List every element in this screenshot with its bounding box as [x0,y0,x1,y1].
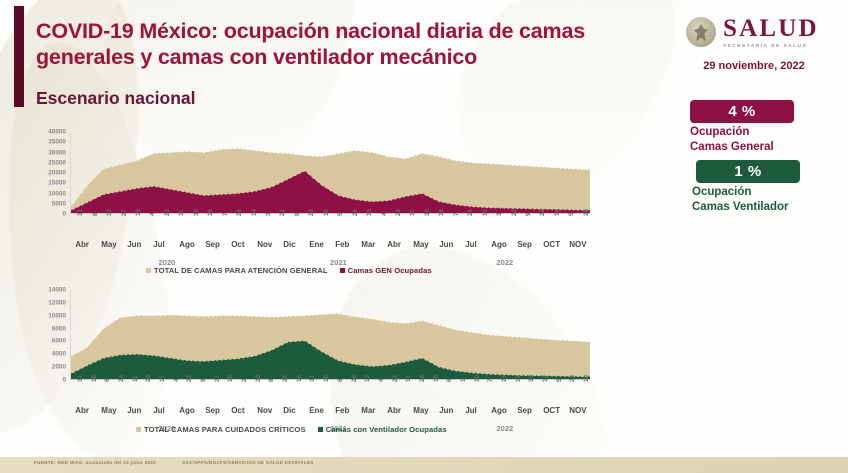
x-tick-label: 12 [515,375,522,382]
x-tick-label: 10 [583,375,590,382]
y-tick-label: 30000 [26,149,66,156]
x-tick-label: 15 [227,375,234,382]
x-axis-month-label: Ene [309,240,324,249]
legend-swatch-icon [136,427,141,432]
x-tick-label: 14 [251,209,258,216]
x-tick-label: 28 [539,209,546,216]
x-tick-label: 26 [236,209,243,216]
x-tick-label: 4 [381,213,388,216]
footer-bar: FUENTE: RED IRAG, acumulado del 24 junio… [0,457,848,473]
x-tick-label: 3 [265,213,272,216]
y-tick-label: 12000 [26,299,66,306]
x-tick-label: 9 [200,379,207,382]
legend-swatch-icon [340,268,345,273]
y-tick-label: 2000 [26,364,66,371]
x-tick-label: 20 [255,375,262,382]
y-tick-label: 25000 [26,159,66,166]
x-axis-month-label: Mar [361,406,375,415]
x-tick-label: 11 [132,375,139,382]
x-axis-month-label: Jul [465,406,477,415]
x-axis-month-label: Jun [439,240,453,249]
x-tick-label: 13 [106,209,113,216]
x-tick-label: 22 [186,375,193,382]
x-tick-label: 5 [337,213,344,216]
legend-label: TOTAL DE CAMAS PARA ATENCIÓN GENERAL [154,266,328,275]
x-axis-month-label: Abr [75,406,89,415]
x-tick-label: 18 [438,209,445,216]
x-axis-month-label: Ago [491,406,507,415]
x-axis-month-label: Nov [257,240,272,249]
x-tick-label: 27 [214,375,221,382]
x-tick-label: 3 [496,213,503,216]
y-tick-label: 0 [26,377,66,384]
x-axis-month-label: Nov [257,406,272,415]
x-tick-label: 11 [178,209,185,216]
x-tick-label: 10 [135,209,142,216]
kpi-caption-ventilador-line2: Camas Ventilador [692,200,842,215]
x-tick-label: 28 [308,209,315,216]
plot-area-camas-generales [70,132,590,214]
x-axis-month-label: NOV [569,406,586,415]
y-tick-label: 5000 [26,200,66,207]
legend-camas-generales: TOTAL DE CAMAS PARA ATENCIÓN GENERALCama… [146,266,440,275]
y-tick-label: 40000 [26,129,66,136]
x-tick-label: 13 [364,375,371,382]
x-axis-month-label: Dic [283,240,295,249]
x-tick-label: 29 [145,375,152,382]
chart-camas-ventilador: 02000400060008000100001200014000 3118624… [26,290,596,445]
x-tick-label: 5 [568,213,575,216]
x-tick-label: 22 [511,209,518,216]
y-tick-label: 14000 [26,287,66,294]
y-tick-label: 20000 [26,170,66,177]
x-axis-month-label: Sep [205,240,220,249]
x-tick-label: 31 [77,375,84,382]
x-tick-label: 6 [337,379,344,382]
x-tick-label: 29 [419,375,426,382]
x-axis-month-label: Ago [179,406,195,415]
x-axis-month-label: May [101,240,117,249]
x-tick-label: 26 [467,209,474,216]
footer-source: FUENTE: RED IRAG, acumulado del 24 junio… [34,460,156,465]
accent-bar [14,6,24,107]
y-tick-label: 8000 [26,325,66,332]
x-tick-label: 4 [378,379,385,382]
x-axis-month-label: Abr [387,406,401,415]
right-panel: SALUD SECRETARÍA DE SALUD 29 noviembre, … [660,0,848,473]
x-tick-label: 30 [193,209,200,216]
x-tick-label: 22 [392,375,399,382]
x-axis-month-label: Dic [283,406,295,415]
x-axis-month-label: Ago [179,240,195,249]
footer-source-secondary: SSA/SPPS/DGCFS/SERVICIOS DE SALUD ESTATA… [182,460,314,465]
x-axis-month-label: Jul [465,240,477,249]
x-tick-label: 7 [453,213,460,216]
brand-lockup: SALUD SECRETARÍA DE SALUD [686,16,819,49]
x-axis-month-label: Feb [335,240,349,249]
x-tick-label: 23 [569,375,576,382]
slide-stage: COVID-19 México: ocupación nacional diar… [0,0,848,473]
legend-label: Camas con Ventilador Ocupadas [326,425,447,434]
kpi-caption-general-line2: Camas General [690,140,830,155]
x-tick-label: 7 [487,379,494,382]
y-tick-label: 10000 [26,312,66,319]
x-tick-label: 25 [501,375,508,382]
x-tick-label: 7 [222,213,229,216]
legend-label: Camas GEN Ocupadas [348,266,432,275]
mexico-eagle-seal-icon [686,17,716,47]
x-tick-label: 16 [554,209,561,216]
x-axis-month-label: OCT [543,406,560,415]
x-tick-label: 18 [207,209,214,216]
x-axis-month-label: Ene [309,406,324,415]
chart-camas-generales: 0500010000150002000025000300003500040000… [26,132,596,282]
kpi-caption-ventilador-line1: Ocupación [692,185,842,200]
kpi-caption-ventilador: Ocupación Camas Ventilador [692,185,842,214]
x-tick-label: 9 [525,213,532,216]
area-chart-svg-camas-ventilador [70,290,590,380]
x-tick-label: 8 [268,379,275,382]
x-tick-label: 17 [542,375,549,382]
x-tick-label: 6 [104,379,111,382]
x-tick-label: 27 [121,209,128,216]
x-tick-label: 31 [77,209,84,216]
x-axis-month-label: Oct [231,240,244,249]
x-tick-label: 26 [351,375,358,382]
x-tick-label: 19 [474,375,481,382]
status-badge-ocupacion-general: 4 % [690,100,794,123]
x-tick-label: 5 [556,379,563,382]
y-tick-label: 10000 [26,190,66,197]
brand-wordmark: SALUD [723,16,819,41]
status-badge-ocupacion-ventilador: 1 % [696,160,800,183]
x-tick-label: 16 [323,209,330,216]
x-axis-month-label: Mar [361,240,375,249]
y-tick-label: 4000 [26,351,66,358]
y-tick-label: 15000 [26,180,66,187]
x-tick-label: 31 [309,375,316,382]
x-tick-label: 13 [366,209,373,216]
page-title: COVID-19 México: ocupación nacional diar… [36,18,656,70]
x-tick-label: 2 [241,379,248,382]
x-tick-label: 23 [395,209,402,216]
x-tick-label: 11 [405,375,412,382]
x-axis-year-label: 2022 [496,424,513,433]
slide-date: 29 noviembre, 2022 [660,60,848,72]
y-tick-label: 0 [26,211,66,218]
x-axis-month-label: May [101,406,117,415]
x-axis-month-label: Jun [439,406,453,415]
x-tick-label: 18 [91,375,98,382]
y-axis-line [70,290,71,380]
x-tick-label: 25 [583,209,590,216]
brand-tagline: SECRETARÍA DE SALUD [723,44,819,49]
x-axis-month-label: Jul [153,240,165,249]
legend-item: Camas GEN Ocupadas [340,266,432,275]
y-axis-line [70,132,71,214]
x-tick-label: 22 [279,209,286,216]
x-axis-month-label: May [413,406,429,415]
x-tick-label: 26 [282,375,289,382]
x-tick-label: 9 [294,213,301,216]
kpi-caption-general-line1: Ocupación [690,125,830,140]
x-axis-month-label: Jun [127,240,141,249]
x-tick-label: 16 [433,375,440,382]
legend-item: TOTAL CAMAS PARA CUIDADOS CRÍTICOS [136,425,306,434]
x-axis-month-label: May [413,240,429,249]
x-tick-label: 4 [173,379,180,382]
x-axis-month-label: Sep [517,240,532,249]
x-tick-label: 4 [149,213,156,216]
x-axis-month-label: OCT [543,240,560,249]
x-tick-label: 15 [482,209,489,216]
x-axis-month-label: Sep [517,406,532,415]
x-tick-label: 6 [446,379,453,382]
legend-swatch-icon [318,427,323,432]
x-axis-month-label: Abr [387,240,401,249]
x-tick-label: 30 [424,209,431,216]
x-tick-label: 11 [409,209,416,216]
y-tick-label: 6000 [26,338,66,345]
x-tick-label: 8 [92,213,99,216]
plot-area-camas-ventilador [70,290,590,380]
x-tick-label: 15 [296,375,303,382]
x-axis-month-label: Sep [205,406,220,415]
x-tick-label: 24 [118,375,125,382]
x-axis-month-label: Oct [231,406,244,415]
x-tick-label: 18 [323,375,330,382]
x-axis-month-label: Feb [335,406,349,415]
legend-swatch-icon [146,268,151,273]
kpi-caption-general: Ocupación Camas General [690,125,830,154]
legend-camas-ventilador: TOTAL CAMAS PARA CUIDADOS CRÍTICOSCamas … [136,425,455,434]
legend-item: Camas con Ventilador Ocupadas [318,425,447,434]
legend-label: TOTAL CAMAS PARA CUIDADOS CRÍTICOS [144,425,306,434]
x-axis-month-label: Jul [153,406,165,415]
x-axis-year-label: 2022 [496,258,513,267]
x-axis-month-label: Jun [127,406,141,415]
x-tick-label: 17 [159,375,166,382]
y-tick-label: 35000 [26,139,66,146]
legend-item: TOTAL DE CAMAS PARA ATENCIÓN GENERAL [146,266,328,275]
x-axis-month-label: Abr [75,240,89,249]
x-tick-label: 25 [352,209,359,216]
x-tick-label: 23 [164,209,171,216]
x-axis-month-label: NOV [569,240,586,249]
x-tick-label: 1 [460,379,467,382]
area-chart-svg-camas-generales [70,132,590,214]
x-axis-month-label: Ago [491,240,507,249]
x-tick-label: 30 [528,375,535,382]
page-subtitle: Escenario nacional [36,88,196,109]
